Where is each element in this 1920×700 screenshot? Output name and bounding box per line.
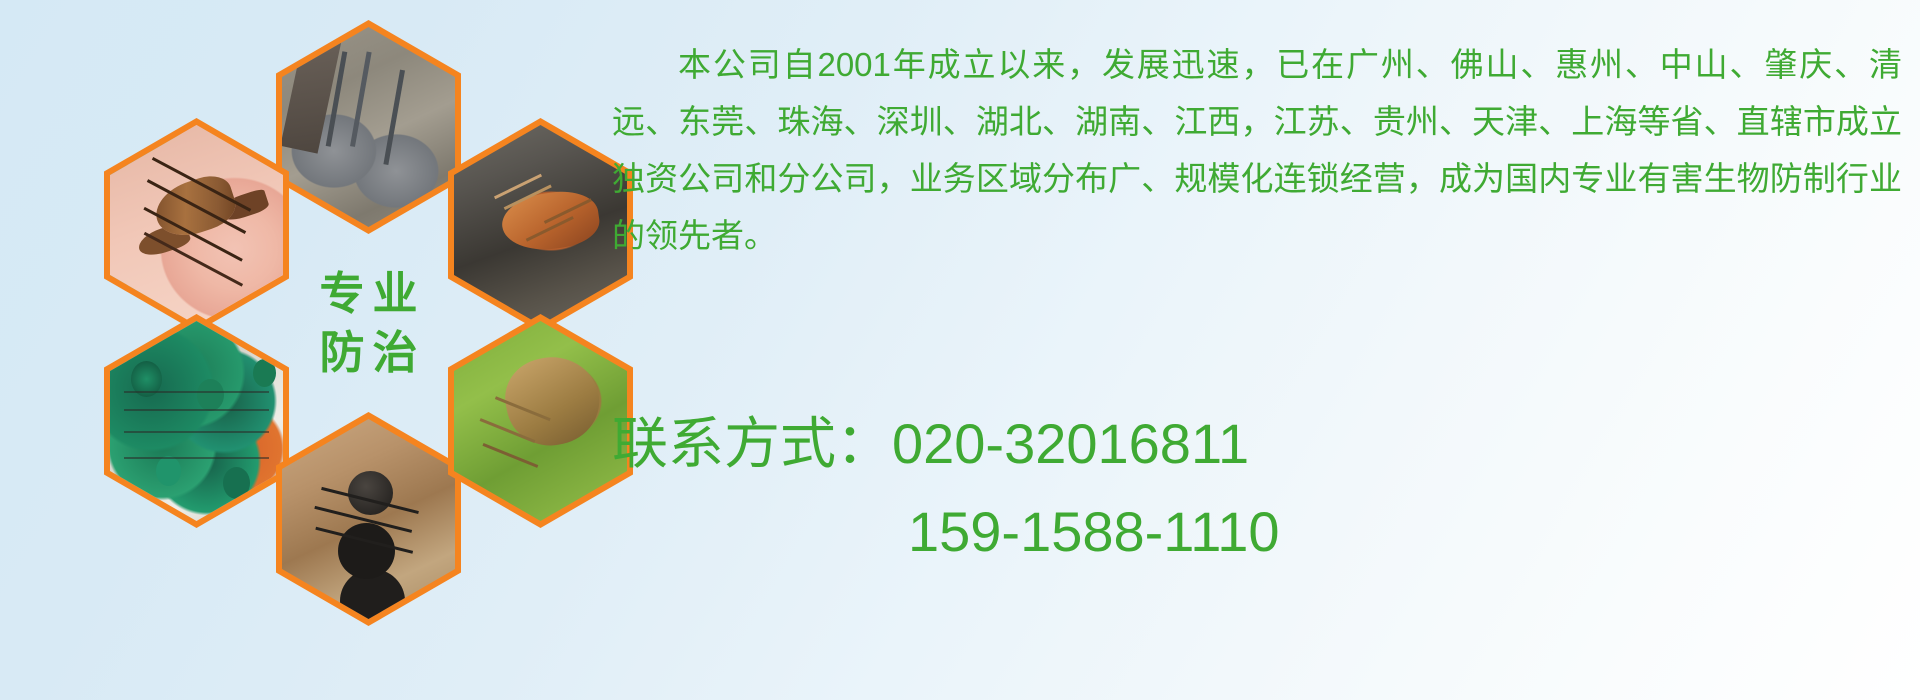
ant-photo-icon <box>282 419 455 619</box>
hex-cell-rats <box>276 20 461 234</box>
honeycomb-center-slogan: 专业 防治 <box>276 216 461 430</box>
contact-line-landline[interactable]: 联系方式：020-32016811 <box>612 400 1902 488</box>
hex-inner-rats <box>282 27 455 227</box>
stinkbug-photo-icon <box>454 321 627 521</box>
slogan-line-2: 防治 <box>311 330 425 375</box>
hex-cell-cockroach <box>448 118 633 332</box>
honeycomb-image-cluster: 专业 防治 <box>95 8 595 578</box>
flies-photo-icon <box>110 321 283 521</box>
contact-line-mobile[interactable]: 159-1588-1110 <box>612 488 1902 576</box>
rat-photo-icon <box>282 27 455 227</box>
hex-cell-stinkbug <box>448 314 633 528</box>
hex-cell-ant <box>276 412 461 626</box>
slogan-line-1: 专业 <box>311 271 425 316</box>
mosquito-photo-icon <box>110 125 283 325</box>
hex-cell-flies <box>104 314 289 528</box>
intro-paragraph: 本公司自2001年成立以来，发展迅速，已在广州、佛山、惠州、中山、肇庆、清远、东… <box>612 36 1902 264</box>
hex-inner-cockroach <box>454 125 627 325</box>
hex-inner-stinkbug <box>454 321 627 521</box>
company-intro-block: 本公司自2001年成立以来，发展迅速，已在广州、佛山、惠州、中山、肇庆、清远、东… <box>612 36 1902 264</box>
hex-inner-flies <box>110 321 283 521</box>
cockroach-photo-icon <box>454 125 627 325</box>
hex-inner-ant <box>282 419 455 619</box>
hex-inner-mosquito <box>110 125 283 325</box>
hex-cell-mosquito <box>104 118 289 332</box>
contact-block: 联系方式：020-32016811 159-1588-1110 <box>612 400 1902 576</box>
